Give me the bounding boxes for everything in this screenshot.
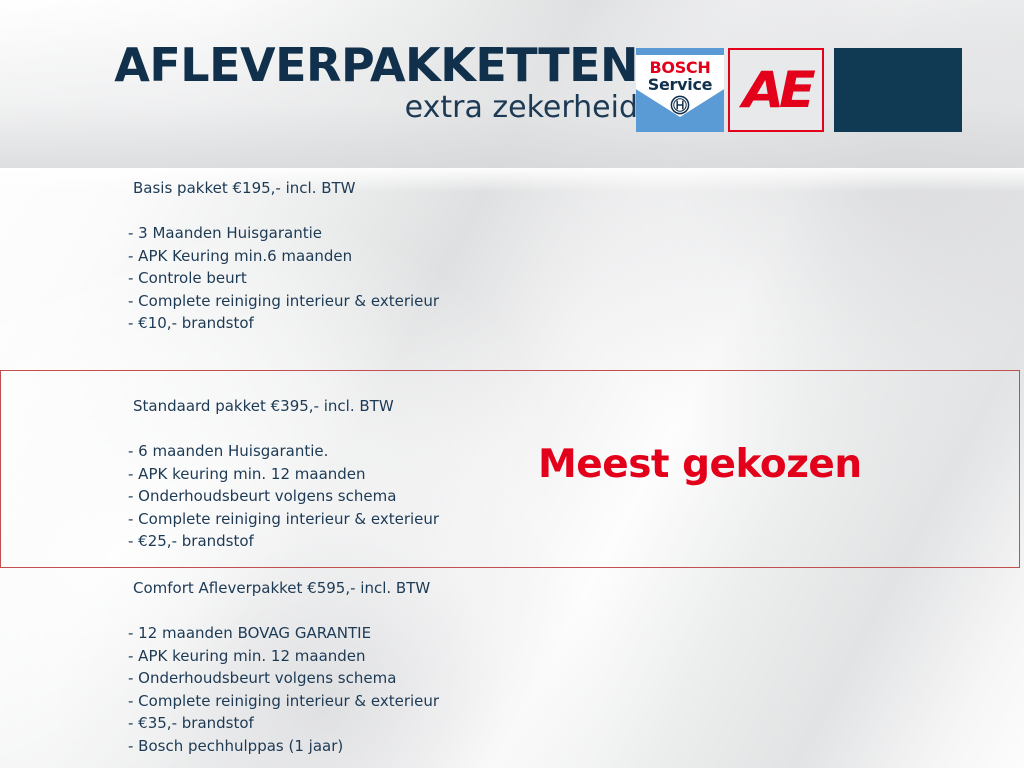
title-subtitle: extra zekerheid (90, 90, 638, 126)
status-badge: Meest gekozen (538, 443, 862, 487)
list-item: - APK keuring min. 12 maanden (128, 463, 439, 486)
list-item: - APK Keuring min.6 maanden (128, 245, 439, 268)
list-item: - Complete reiniging interieur & exterie… (128, 508, 439, 531)
bosch-wordmark: BOSCH (636, 59, 724, 76)
navy-plate-logo (834, 48, 962, 132)
list-item: - 12 maanden BOVAG GARANTIE (128, 622, 439, 645)
slide-canvas: AFLEVERPAKKETTEN extra zekerheid BOSCH S… (0, 0, 1024, 768)
bosch-service-wordmark: Service (636, 76, 724, 93)
package-comfort-title: Comfort Afleverpakket €595,- incl. BTW (133, 578, 439, 598)
list-item: - APK keuring min. 12 maanden (128, 645, 439, 668)
bosch-service-logo: BOSCH Service (636, 48, 724, 132)
package-basis-title: Basis pakket €195,- incl. BTW (133, 178, 439, 198)
package-comfort: Comfort Afleverpakket €595,- incl. BTW -… (128, 578, 439, 757)
list-item: - Onderhoudsbeurt volgens schema (128, 667, 439, 690)
list-item: - Controle beurt (128, 267, 439, 290)
page-title: AFLEVERPAKKETTEN extra zekerheid (90, 40, 638, 126)
bosch-armature-icon (670, 95, 690, 115)
list-item: - €25,- brandstof (128, 530, 439, 553)
list-item: - Complete reiniging interieur & exterie… (128, 690, 439, 713)
logo-strip: BOSCH Service AE (636, 48, 962, 132)
list-item: - €10,- brandstof (128, 312, 439, 335)
list-item: - Onderhoudsbeurt volgens schema (128, 485, 439, 508)
list-item: - Bosch pechhulppas (1 jaar) (128, 735, 439, 758)
package-comfort-list: - 12 maanden BOVAG GARANTIE - APK keurin… (128, 622, 439, 757)
package-basis-list: - 3 Maanden Huisgarantie - APK Keuring m… (128, 222, 439, 335)
list-item: - Complete reiniging interieur & exterie… (128, 290, 439, 313)
list-item: - €35,- brandstof (128, 712, 439, 735)
package-standaard-title: Standaard pakket €395,- incl. BTW (133, 396, 439, 416)
package-basis: Basis pakket €195,- incl. BTW - 3 Maande… (128, 178, 439, 335)
list-item: - 3 Maanden Huisgarantie (128, 222, 439, 245)
list-item: - 6 maanden Huisgarantie. (128, 440, 439, 463)
ae-wordmark: AE (742, 64, 810, 116)
ae-logo: AE (728, 48, 824, 132)
title-main: AFLEVERPAKKETTEN (90, 40, 638, 90)
package-standaard-list: - 6 maanden Huisgarantie. - APK keuring … (128, 440, 439, 553)
slide-header: AFLEVERPAKKETTEN extra zekerheid BOSCH S… (0, 0, 1024, 168)
package-standaard: Standaard pakket €395,- incl. BTW - 6 ma… (128, 396, 439, 553)
